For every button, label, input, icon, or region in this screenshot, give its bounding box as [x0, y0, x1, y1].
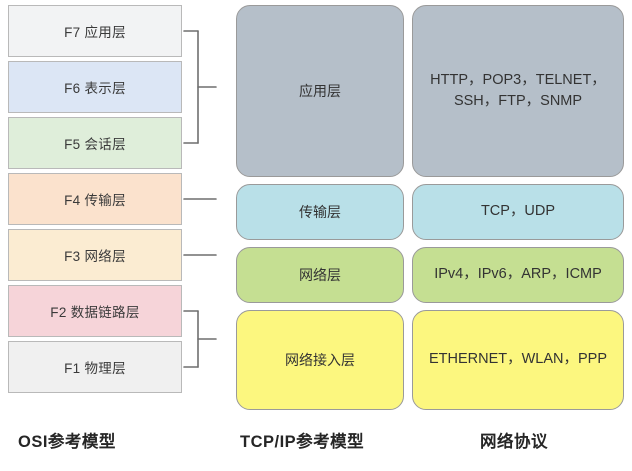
- caption-row: OSI参考模型 TCP/IP参考模型 网络协议: [0, 424, 632, 464]
- tcpip-layer-network-label: 网络层: [299, 265, 341, 285]
- osi-layer-2: F2 数据链路层: [8, 285, 182, 337]
- bracket-application: [184, 31, 216, 143]
- protocol-transport-label: TCP，UDP: [481, 201, 555, 222]
- protocol-network-label: IPv4，IPv6，ARP，ICMP: [434, 264, 602, 285]
- osi-layer-1: F1 物理层: [8, 341, 182, 393]
- protocol-application-label: HTTP，POP3，TELNET，SSH，FTP，SNMP: [421, 70, 615, 112]
- osi-layer-4: F4 传输层: [8, 173, 182, 225]
- connector-brackets: [182, 0, 238, 420]
- osi-model-column: F7 应用层 F6 表示层 F5 会话层 F4 传输层 F3 网络层 F2 数据…: [8, 5, 182, 397]
- tcpip-layer-network-access: 网络接入层: [236, 310, 404, 410]
- osi-layer-1-label: F1 物理层: [64, 357, 126, 377]
- tcpip-model-column: 应用层 传输层 网络层 网络接入层: [236, 5, 404, 417]
- tcpip-layer-transport: 传输层: [236, 184, 404, 240]
- caption-osi: OSI参考模型: [18, 428, 116, 452]
- caption-protocol: 网络协议: [480, 428, 548, 452]
- tcpip-layer-network: 网络层: [236, 247, 404, 303]
- tcpip-layer-application: 应用层: [236, 5, 404, 177]
- caption-tcpip: TCP/IP参考模型: [240, 428, 364, 452]
- protocol-network-access-label: ETHERNET，WLAN，PPP: [429, 349, 607, 370]
- tcpip-layer-application-label: 应用层: [299, 81, 341, 101]
- osi-layer-7: F7 应用层: [8, 5, 182, 57]
- osi-layer-4-label: F4 传输层: [64, 189, 126, 209]
- osi-layer-5-label: F5 会话层: [64, 133, 126, 153]
- tcpip-layer-network-access-label: 网络接入层: [285, 350, 355, 370]
- protocol-column: HTTP，POP3，TELNET，SSH，FTP，SNMP TCP，UDP IP…: [412, 5, 624, 417]
- osi-layer-2-label: F2 数据链路层: [50, 301, 139, 321]
- protocol-transport: TCP，UDP: [412, 184, 624, 240]
- tcpip-layer-transport-label: 传输层: [299, 202, 341, 222]
- osi-layer-6: F6 表示层: [8, 61, 182, 113]
- protocol-network: IPv4，IPv6，ARP，ICMP: [412, 247, 624, 303]
- osi-layer-3: F3 网络层: [8, 229, 182, 281]
- diagram-canvas: F7 应用层 F6 表示层 F5 会话层 F4 传输层 F3 网络层 F2 数据…: [0, 0, 632, 471]
- osi-layer-3-label: F3 网络层: [64, 245, 126, 265]
- protocol-application: HTTP，POP3，TELNET，SSH，FTP，SNMP: [412, 5, 624, 177]
- osi-layer-7-label: F7 应用层: [64, 21, 126, 41]
- bracket-network-access: [184, 311, 216, 367]
- osi-layer-6-label: F6 表示层: [64, 77, 126, 97]
- protocol-network-access: ETHERNET，WLAN，PPP: [412, 310, 624, 410]
- osi-layer-5: F5 会话层: [8, 117, 182, 169]
